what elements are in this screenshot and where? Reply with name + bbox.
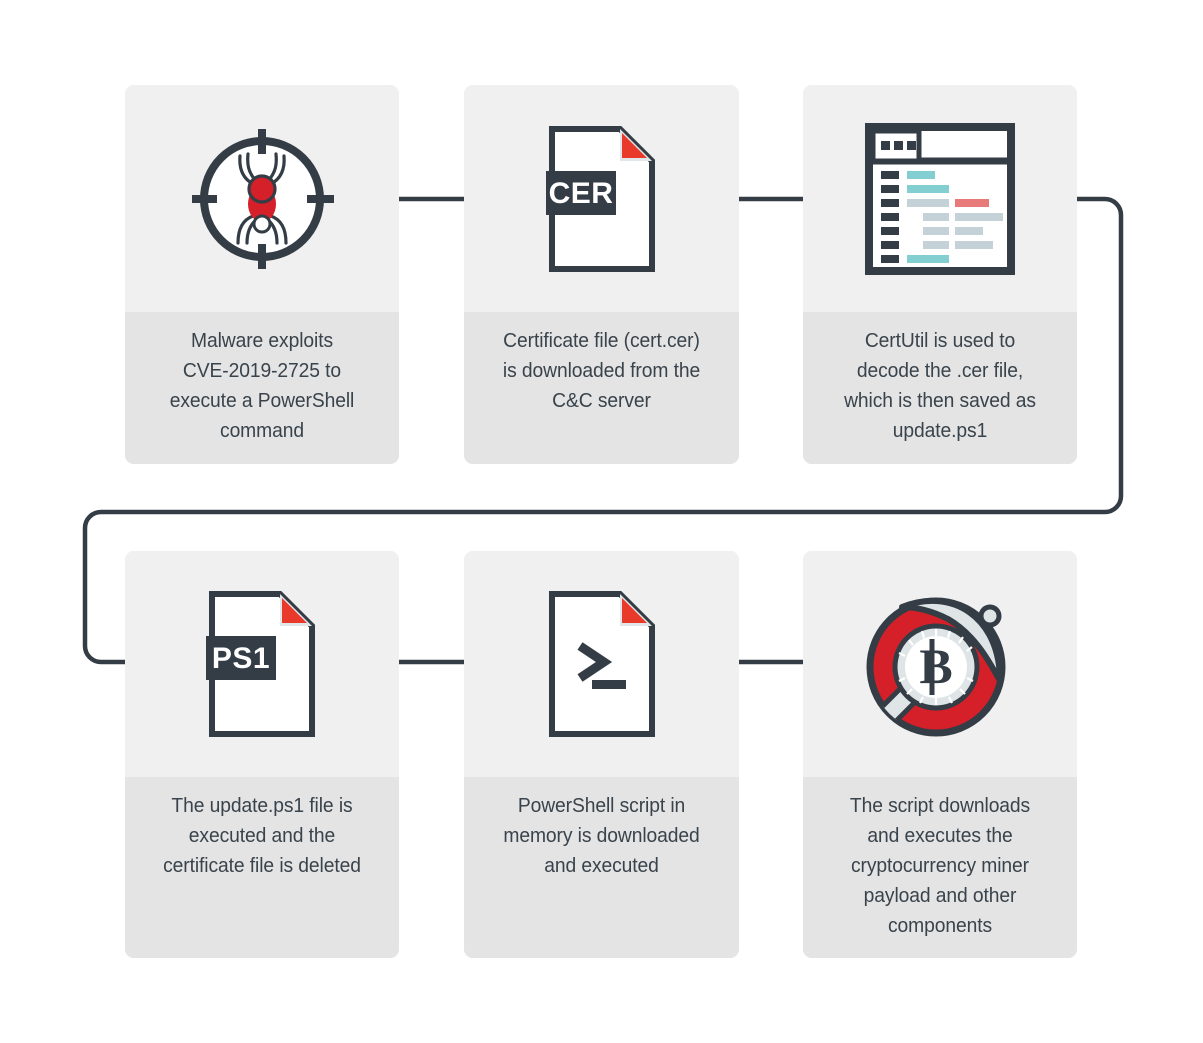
crosshair-spider-icon [187, 124, 337, 274]
cer-file-label: CER [548, 177, 613, 210]
step-card-4[interactable]: PS1 The update.ps1 file is executed and … [125, 551, 399, 958]
step-3-caption: CertUtil is used to decode the .cer file… [811, 326, 1069, 446]
step-3-text-pane: CertUtil is used to decode the .cer file… [803, 312, 1077, 464]
step-card-1[interactable]: Malware exploits CVE-2019-2725 to execut… [125, 85, 399, 464]
ps1-file-icon: PS1 [206, 588, 318, 740]
step-1-caption: Malware exploits CVE-2019-2725 to execut… [133, 326, 391, 446]
step-5-icon-pane [464, 551, 739, 777]
step-4-caption: The update.ps1 file is executed and the … [133, 791, 391, 881]
step-card-5[interactable]: PowerShell script in memory is downloade… [464, 551, 739, 958]
cer-file-icon: CER [546, 123, 658, 275]
step-5-caption: PowerShell script in memory is downloade… [472, 791, 731, 881]
step-3-icon-pane [803, 85, 1077, 312]
step-4-icon-pane: PS1 [125, 551, 399, 777]
shell-prompt-file-icon [546, 588, 658, 740]
step-2-text-pane: Certificate file (cert.cer) is downloade… [464, 312, 739, 464]
ps1-file-label: PS1 [212, 642, 270, 675]
bitcoin-miner-pickaxe-icon: B [860, 585, 1020, 743]
step-6-caption: The script downloads and executes the cr… [811, 791, 1069, 941]
step-card-2[interactable]: CER Certificate file (cert.cer) is downl… [464, 85, 739, 464]
step-card-3[interactable]: CertUtil is used to decode the .cer file… [803, 85, 1077, 464]
flow-diagram: Malware exploits CVE-2019-2725 to execut… [0, 0, 1203, 1043]
bitcoin-symbol-label: B [919, 638, 952, 694]
step-2-caption: Certificate file (cert.cer) is downloade… [472, 326, 731, 416]
step-6-icon-pane: B [803, 551, 1077, 777]
step-1-text-pane: Malware exploits CVE-2019-2725 to execut… [125, 312, 399, 464]
step-5-text-pane: PowerShell script in memory is downloade… [464, 777, 739, 958]
step-1-icon-pane [125, 85, 399, 312]
step-6-text-pane: The script downloads and executes the cr… [803, 777, 1077, 958]
step-card-6[interactable]: B The script downloads and executes the … [803, 551, 1077, 958]
step-4-text-pane: The update.ps1 file is executed and the … [125, 777, 399, 958]
step-2-icon-pane: CER [464, 85, 739, 312]
code-window-icon [865, 123, 1015, 275]
